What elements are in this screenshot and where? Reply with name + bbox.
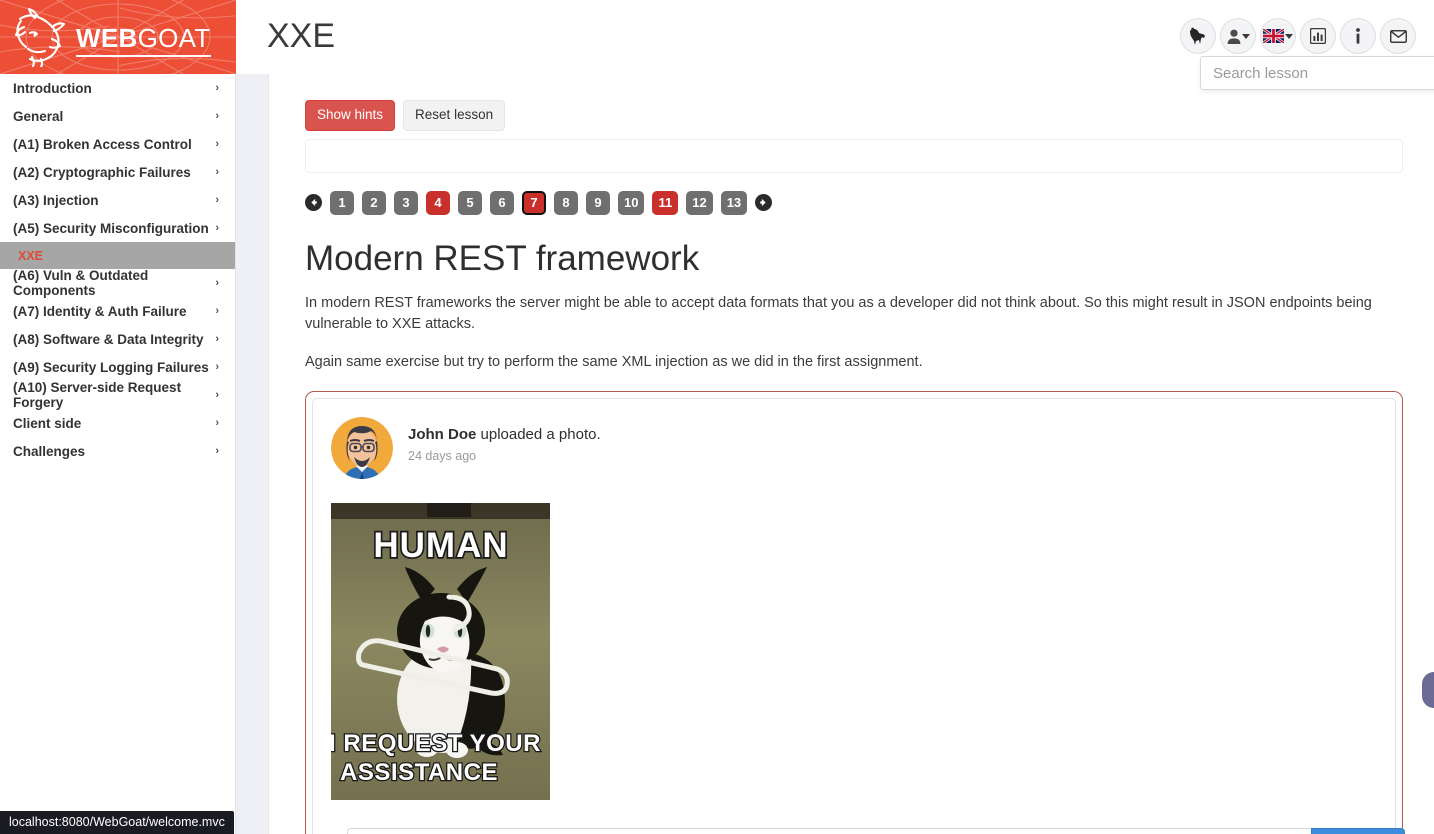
post-author: John Doe: [408, 426, 476, 443]
sidebar-item-label: Challenges: [13, 444, 85, 459]
sidebar-item-introduction[interactable]: Introduction ›: [0, 74, 235, 102]
sidebar-item-label: General: [13, 109, 63, 124]
post-action: uploaded a photo.: [476, 426, 600, 443]
sidebar-item-a7-identity-auth-failure[interactable]: (A7) Identity & Auth Failure ›: [0, 297, 235, 325]
hint-container: [305, 139, 1403, 173]
status-bar-url: localhost:8080/WebGoat/welcome.mvc: [0, 811, 234, 834]
sidebar-item-label: Introduction: [13, 81, 92, 96]
sidebar-item-label: (A10) Server-side Request Forgery: [13, 380, 215, 410]
sidebar-item-challenges[interactable]: Challenges ›: [0, 437, 235, 465]
lesson-paragraph-1: In modern REST frameworks the server mig…: [305, 293, 1403, 334]
search-lesson-panel[interactable]: [1200, 56, 1434, 90]
report-card-button[interactable]: [1300, 18, 1336, 54]
sidebar-item-a10-server-side-request-forgery[interactable]: (A10) Server-side Request Forgery ›: [0, 381, 235, 409]
reset-lesson-button[interactable]: Reset lesson: [403, 100, 505, 131]
chevron-right-icon: ›: [215, 361, 219, 373]
page-button-2[interactable]: 2: [362, 191, 386, 215]
contact-button[interactable]: [1380, 18, 1416, 54]
post-timestamp: 24 days ago: [408, 449, 601, 463]
info-icon: [1354, 28, 1362, 45]
sidebar-item-label: (A2) Cryptographic Failures: [13, 165, 191, 180]
chevron-right-icon: ›: [215, 166, 219, 178]
post-header: John Doe uploaded a photo. 24 days ago: [331, 417, 1377, 479]
chevron-right-icon: ›: [215, 82, 219, 94]
brand-web: WEB: [76, 23, 138, 57]
page-button-7[interactable]: 7: [522, 191, 546, 215]
assignment-inner: John Doe uploaded a photo. 24 days ago: [312, 398, 1396, 834]
sidebar-item-client-side[interactable]: Client side ›: [0, 409, 235, 437]
page-button-5[interactable]: 5: [458, 191, 482, 215]
sidebar-item-a5-security-misconfiguration[interactable]: (A5) Security Misconfiguration ›: [0, 214, 235, 242]
page-button-6[interactable]: 6: [490, 191, 514, 215]
user-menu-button[interactable]: [1220, 18, 1256, 54]
lesson-pagination: 1 2 3 4 5 6 7 8 9 10 11 12 13: [305, 191, 1403, 215]
lesson-card: Show hints Reset lesson 1 2 3 4 5 6 7 8: [268, 74, 1434, 834]
scroll-indicator[interactable]: [1422, 672, 1434, 708]
pagination-next-button[interactable]: [755, 194, 772, 211]
sidebar-item-label: (A6) Vuln & Outdated Components: [13, 268, 215, 298]
chevron-right-icon: ›: [215, 333, 219, 345]
goat-button[interactable]: [1180, 18, 1216, 54]
sidebar-item-label: (A3) Injection: [13, 193, 99, 208]
meme-graphic: HUMAN I REQUEST YOUR ASSISTANCE: [331, 503, 550, 800]
about-button[interactable]: [1340, 18, 1376, 54]
brand-goat: GOAT: [138, 23, 211, 57]
sidebar-item-label: (A9) Security Logging Failures: [13, 360, 209, 375]
sidebar-subitem-label: XXE: [18, 249, 43, 263]
sidebar-item-a2-cryptographic-failures[interactable]: (A2) Cryptographic Failures ›: [0, 158, 235, 186]
post-meta: John Doe uploaded a photo. 24 days ago: [408, 417, 601, 463]
submit-button[interactable]: Submit: [1311, 828, 1405, 834]
avatar: [331, 417, 393, 479]
chevron-right-icon: ›: [215, 222, 219, 234]
sidebar-item-general[interactable]: General ›: [0, 102, 235, 130]
envelope-icon: [1390, 30, 1407, 43]
chevron-right-icon: ›: [215, 110, 219, 122]
sidebar-item-a9-security-logging-failures[interactable]: (A9) Security Logging Failures ›: [0, 353, 235, 381]
page-button-9[interactable]: 9: [586, 191, 610, 215]
page-button-8[interactable]: 8: [554, 191, 578, 215]
sidebar-item-a8-software-data-integrity[interactable]: (A8) Software & Data Integrity ›: [0, 325, 235, 353]
svg-text:HUMAN: HUMAN: [373, 526, 508, 565]
chevron-right-icon: ›: [215, 194, 219, 206]
comment-form: Submit: [347, 828, 1405, 834]
sidebar-item-xxe[interactable]: XXE: [0, 242, 235, 269]
chevron-right-icon: ›: [215, 417, 219, 429]
header-toolbar: [1180, 18, 1416, 54]
chevron-right-icon: ›: [215, 277, 219, 289]
chevron-right-icon: ›: [215, 305, 219, 317]
chevron-right-icon: ›: [215, 138, 219, 150]
chevron-right-icon: ›: [215, 389, 219, 401]
page-button-11[interactable]: 11: [652, 191, 678, 215]
page-button-10[interactable]: 10: [618, 191, 644, 215]
brand-header[interactable]: WEBGOAT: [0, 0, 236, 74]
sidebar-item-a1-broken-access-control[interactable]: (A1) Broken Access Control ›: [0, 130, 235, 158]
page-button-12[interactable]: 12: [686, 191, 712, 215]
content-area: Show hints Reset lesson 1 2 3 4 5 6 7 8: [236, 74, 1434, 834]
sidebar-item-label: (A5) Security Misconfiguration: [13, 221, 209, 236]
language-menu-button[interactable]: [1260, 18, 1296, 54]
arrow-left-icon: [309, 198, 318, 207]
sidebar-nav: Introduction › General › (A1) Broken Acc…: [0, 74, 235, 465]
cat-hanger-meme-image: HUMAN I REQUEST YOUR ASSISTANCE: [331, 503, 550, 800]
chevron-right-icon: ›: [215, 445, 219, 457]
sidebar-item-label: (A8) Software & Data Integrity: [13, 332, 204, 347]
sidebar: WEBGOAT Introduction › General › (A1) Br…: [0, 0, 236, 834]
page-button-13[interactable]: 13: [721, 191, 747, 215]
comment-input[interactable]: [347, 828, 1311, 834]
sidebar-item-a3-injection[interactable]: (A3) Injection ›: [0, 186, 235, 214]
sidebar-item-label: (A1) Broken Access Control: [13, 137, 192, 152]
post-text: John Doe uploaded a photo.: [408, 426, 601, 443]
chevron-down-icon: [1285, 34, 1293, 39]
sidebar-item-label: Client side: [13, 416, 81, 431]
page-button-1[interactable]: 1: [330, 191, 354, 215]
svg-text:I REQUEST YOUR: I REQUEST YOUR: [331, 730, 541, 757]
search-input[interactable]: [1201, 64, 1434, 83]
chevron-down-icon: [1242, 34, 1250, 39]
user-icon: [1227, 29, 1241, 44]
page-title: XXE: [267, 16, 335, 57]
sidebar-item-a6-vuln-outdated-components[interactable]: (A6) Vuln & Outdated Components ›: [0, 269, 235, 297]
chart-icon: [1310, 28, 1326, 44]
sidebar-item-label: (A7) Identity & Auth Failure: [13, 304, 187, 319]
assignment-panel: John Doe uploaded a photo. 24 days ago: [305, 391, 1403, 834]
goat-head-icon: [8, 7, 74, 67]
lesson-title: Modern REST framework: [305, 239, 1403, 279]
page-button-4[interactable]: 4: [426, 191, 450, 215]
svg-text:ASSISTANCE: ASSISTANCE: [340, 759, 498, 786]
webgoat-app-window: WEBGOAT Introduction › General › (A1) Br…: [0, 0, 1434, 834]
goat-icon: [1188, 27, 1208, 45]
user-avatar-photo: [331, 417, 393, 479]
pagination-prev-button[interactable]: [305, 194, 322, 211]
show-hints-button[interactable]: Show hints: [305, 100, 395, 131]
page-button-3[interactable]: 3: [394, 191, 418, 215]
brand-wordmark: WEBGOAT: [76, 25, 211, 51]
lesson-paragraph-2: Again same exercise but try to perform t…: [305, 352, 1403, 373]
lesson-controls: Show hints Reset lesson: [305, 100, 1403, 131]
flag-uk-icon: [1263, 29, 1284, 43]
arrow-right-icon: [759, 198, 768, 207]
